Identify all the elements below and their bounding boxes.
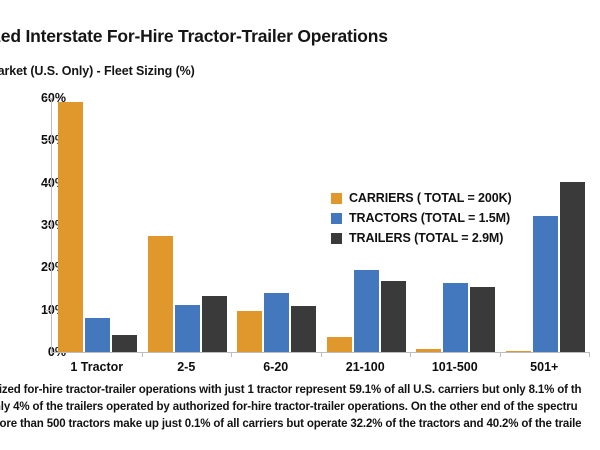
footnote-line: with more than 500 tractors make up just… [0,418,581,430]
legend-swatch-trailers [331,233,342,244]
bar-tractors[interactable] [175,305,200,352]
bar-carriers[interactable] [506,351,531,352]
bar-trailers[interactable] [470,287,495,352]
x-axis-tick [321,352,322,357]
bar-group [142,98,232,352]
x-axis-tick [142,352,143,357]
x-axis-tick [589,352,590,357]
bar-trailers[interactable] [112,335,137,352]
footnote-line: authorized for-hire tractor-trailer oper… [0,384,581,396]
y-axis-tick [45,310,52,311]
bar-trailers[interactable] [381,281,406,352]
bar-carriers[interactable] [416,349,441,352]
chart-footnote: authorized for-hire tractor-trailer oper… [0,382,600,450]
bar-tractors[interactable] [354,270,379,352]
footnote-line: and only 4% of the trailers operated by … [0,401,577,413]
legend-item-label: CARRIERS ( TOTAL = 200K) [349,191,512,205]
x-axis-tick-label: 1 Tractor [52,360,142,374]
page-title: horized Interstate For-Hire Tractor-Trai… [0,26,388,47]
x-axis-tick-label: 6-20 [231,360,321,374]
bar-group [500,98,590,352]
bar-carriers[interactable] [237,311,262,352]
x-axis-tick [500,352,501,357]
bar-carriers[interactable] [148,236,173,352]
y-axis-tick [45,225,52,226]
x-axis-tick [410,352,411,357]
x-axis-tick-label: 101-500 [410,360,500,374]
bar-group [231,98,321,352]
legend-item[interactable]: TRACTORS (TOTAL = 1.5M) [331,208,512,228]
chart-area: 0%10%20%30%40%50%60% 1 Tractor2-56-2021-… [0,88,600,380]
x-axis-tick [231,352,232,357]
bar-group [52,98,142,352]
y-axis-tick [45,183,52,184]
legend-swatch-carriers [331,193,342,204]
y-axis-tick [45,140,52,141]
bar-tractors[interactable] [85,318,110,352]
x-axis-tick-label: 21-100 [321,360,411,374]
chart-subtitle: Hire Market (U.S. Only) - Fleet Sizing (… [0,64,195,78]
y-axis-tick [45,267,52,268]
bar-tractors[interactable] [443,283,468,352]
legend-item[interactable]: CARRIERS ( TOTAL = 200K) [331,188,512,208]
x-axis-tick-label: 2-5 [142,360,232,374]
legend-item[interactable]: TRAILERS (TOTAL = 2.9M) [331,228,512,248]
bar-carriers[interactable] [327,337,352,352]
y-axis-tick [45,98,52,99]
bar-carriers[interactable] [58,102,83,352]
legend-item-label: TRAILERS (TOTAL = 2.9M) [349,231,503,245]
bar-trailers[interactable] [291,306,316,352]
bar-trailers[interactable] [560,182,585,352]
chart-header: horized Interstate For-Hire Tractor-Trai… [0,0,600,92]
bar-tractors[interactable] [533,216,558,352]
bar-tractors[interactable] [264,293,289,352]
x-axis-tick-label: 501+ [500,360,590,374]
chart-legend: CARRIERS ( TOTAL = 200K)TRACTORS (TOTAL … [331,188,512,248]
bar-trailers[interactable] [202,296,227,352]
legend-item-label: TRACTORS (TOTAL = 1.5M) [349,211,510,225]
legend-swatch-tractors [331,213,342,224]
